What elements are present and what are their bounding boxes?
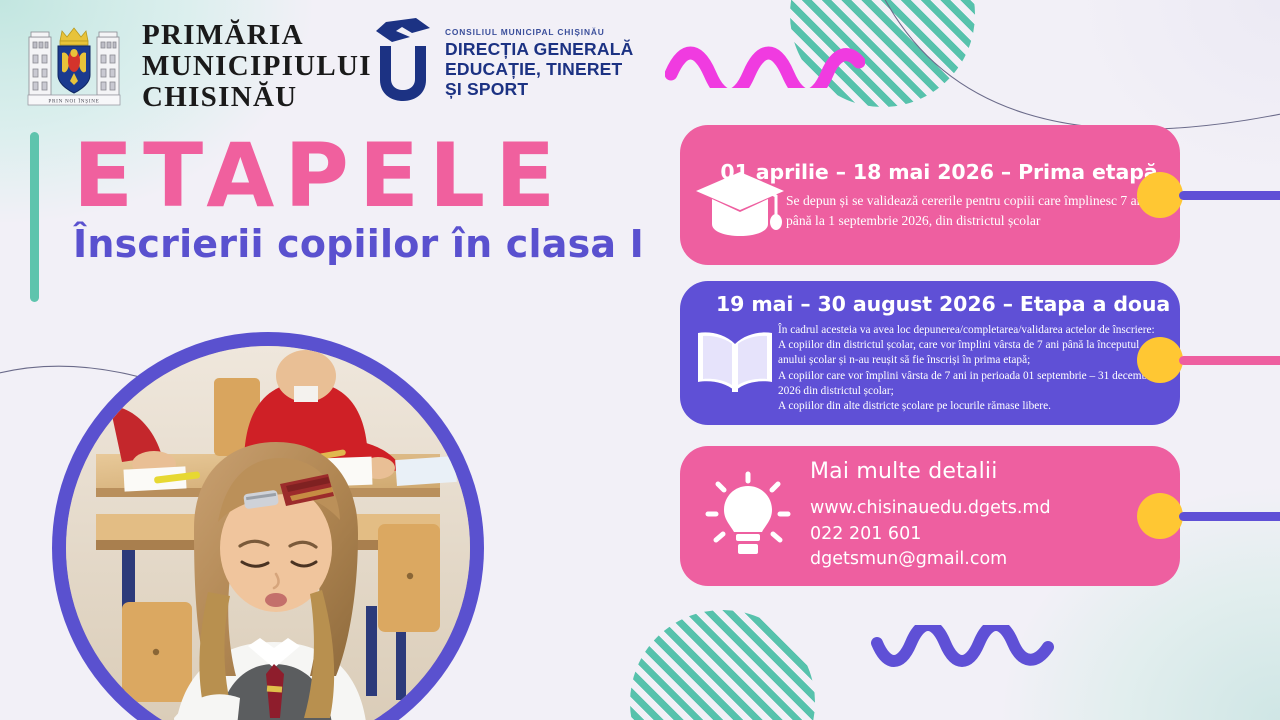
title-accent-bar — [30, 132, 39, 302]
stage-1-connector — [1137, 172, 1280, 218]
chisinau-coat-of-arms-icon: PRIN NOI ÎNȘINE — [22, 23, 126, 111]
stage-2-card[interactable]: 19 mai – 30 august 2026 – Etapa a doua Î… — [680, 281, 1180, 425]
connector-line — [1179, 512, 1280, 521]
primaria-wordmark: PRIMĂRIA MUNICIPIULUI CHISINĂU — [142, 20, 372, 113]
stage-1-body: 01 aprilie – 18 mai 2026 – Prima etapă S… — [786, 160, 1162, 230]
striped-circle-bottom-decor — [630, 610, 815, 720]
primaria-line-3: CHISINĂU — [142, 82, 372, 113]
details-card[interactable]: Mai multe detalii www.chisinauedu.dgets.… — [680, 446, 1180, 586]
photo-ring — [52, 332, 484, 720]
primaria-line-2: MUNICIPIULUI — [142, 51, 372, 82]
pink-wave-decor — [665, 42, 865, 88]
striped-circle-top-decor — [790, 0, 975, 107]
primaria-logo: PRIN NOI ÎNȘINE PRIMĂRIA MUNICIPIULUI CH… — [22, 20, 372, 113]
dgets-line-3: ȘI SPORT — [445, 80, 633, 100]
crest-motto: PRIN NOI ÎNȘINE — [48, 96, 99, 104]
lightbulb-icon — [702, 470, 794, 562]
details-heading: Mai multe detalii — [810, 459, 1162, 484]
details-website[interactable]: www.chisinauedu.dgets.md — [810, 496, 1162, 521]
stage-2-line: 2026 din districtul școlar; — [778, 384, 1166, 399]
stage-2-line: A copiilor care vor împlini vârsta de 7 … — [778, 369, 1166, 384]
dgets-eyebrow: CONSILIUL MUNICIPAL CHIȘINĂU — [445, 27, 633, 37]
details-connector — [1137, 493, 1280, 539]
header: PRIN NOI ÎNȘINE PRIMĂRIA MUNICIPIULUI CH… — [0, 0, 660, 120]
stage-2-line: A copiilor din alte districte școlare pe… — [778, 399, 1166, 414]
poster-canvas: PRIN NOI ÎNȘINE PRIMĂRIA MUNICIPIULUI CH… — [0, 0, 1280, 720]
stage-2-text: În cadrul acesteia va avea loc depunerea… — [778, 323, 1166, 413]
stage-2-line: În cadrul acesteia va avea loc depunerea… — [778, 323, 1166, 338]
page-title: ETAPELE — [73, 132, 644, 220]
stage-2-body: 19 mai – 30 august 2026 – Etapa a doua Î… — [778, 292, 1166, 413]
primaria-line-1: PRIMĂRIA — [142, 20, 372, 51]
purple-wave-decor — [870, 625, 1065, 670]
stage-2-heading: 19 mai – 30 august 2026 – Etapa a doua — [716, 292, 1166, 316]
connector-line — [1179, 356, 1280, 365]
open-book-icon — [692, 324, 778, 400]
details-email[interactable]: dgetsmun@gmail.com — [810, 547, 1162, 572]
title-block: ETAPELE Înscrierii copiilor în clasa I — [30, 132, 644, 302]
details-phone[interactable]: 022 201 601 — [810, 522, 1162, 547]
connector-dot — [1137, 337, 1183, 383]
page-subtitle: Înscrierii copiilor în clasa I — [73, 224, 644, 266]
dgets-line-1: DIRECȚIA GENERALĂ — [445, 40, 633, 60]
dgets-logo: CONSILIUL MUNICIPAL CHIȘINĂU DIRECȚIA GE… — [372, 18, 633, 102]
details-body: Mai multe detalii www.chisinauedu.dgets.… — [794, 459, 1162, 572]
dgets-monogram-icon — [372, 18, 434, 102]
dgets-line-2: EDUCAȚIE, TINERET — [445, 60, 633, 80]
connector-line — [1179, 191, 1280, 200]
connector-dot — [1137, 172, 1183, 218]
classroom-photo — [66, 346, 470, 720]
stage-2-line: A copiilor din districtul școlar, care v… — [778, 338, 1166, 353]
stage-1-text: Se depun și se validează cererile pentru… — [786, 191, 1162, 230]
stage-2-line: anului școlar și n-au reușit să fie însc… — [778, 353, 1166, 368]
stage-1-heading: 01 aprilie – 18 mai 2026 – Prima etapă — [716, 160, 1162, 184]
stage-1-card[interactable]: 01 aprilie – 18 mai 2026 – Prima etapă S… — [680, 125, 1180, 265]
dgets-wordmark: CONSILIUL MUNICIPAL CHIȘINĂU DIRECȚIA GE… — [445, 27, 633, 99]
stage-2-connector — [1137, 337, 1280, 383]
connector-dot — [1137, 493, 1183, 539]
